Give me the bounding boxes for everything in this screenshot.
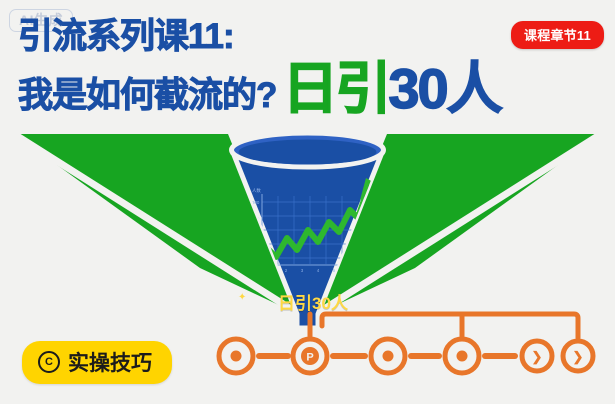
flow-node-3: [371, 339, 405, 373]
headline-emphasis-blue: 30人: [388, 60, 500, 117]
headline-line-2: 我是如何截流的? 日引 30人: [18, 60, 608, 117]
flow-node-4: [445, 339, 479, 373]
flow-bus-line: [322, 314, 578, 338]
flow-node-6: ❯: [563, 341, 593, 371]
flow-node-2: P: [293, 339, 327, 373]
copyright-icon: C: [38, 351, 60, 373]
svg-text:❯: ❯: [532, 349, 543, 365]
headline-emphasis-green: 日引: [282, 60, 388, 117]
svg-text:人数: 人数: [252, 187, 261, 194]
svg-text:❯: ❯: [573, 349, 584, 365]
flow-node-1: [219, 339, 253, 373]
chapter-badge: 课程章节11: [511, 21, 604, 49]
chapter-badge-label: 课程章节11: [524, 28, 591, 43]
funnel-rim-inner: [239, 140, 377, 165]
flow-node-5: ❯: [522, 341, 552, 371]
poster-canvas: AI生成 引流系列课11: 我是如何截流的? 日引 30人 课程章节11: [0, 0, 615, 404]
skill-badge-label: 实操技巧: [68, 347, 152, 377]
svg-text:P: P: [306, 352, 313, 364]
headline-question: 我是如何截流的?: [18, 78, 276, 114]
skill-badge: C 实操技巧: [22, 341, 172, 384]
